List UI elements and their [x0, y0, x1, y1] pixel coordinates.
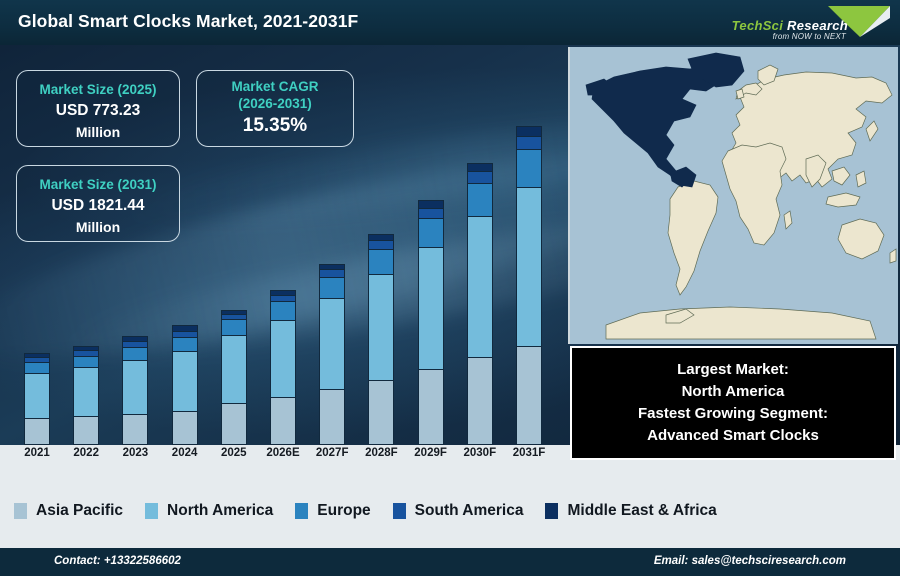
bar-segment-south-america: [368, 240, 394, 249]
bar-2024: [172, 325, 198, 445]
bar-2026e: [270, 290, 296, 445]
callout-largest-market-label: Largest Market:: [677, 359, 789, 381]
bar-segment-asia-pacific: [467, 357, 493, 445]
bar-segment-north-america: [467, 216, 493, 357]
footer-email: Email: sales@techsciresearch.com: [654, 555, 846, 567]
world-map-graphic: [570, 47, 898, 344]
bar-segment-europe: [270, 301, 296, 319]
bar-segment-north-america: [368, 274, 394, 380]
bar-segment-asia-pacific: [122, 414, 148, 445]
legend-swatch-icon: [14, 503, 27, 519]
axis-tick-2029f: 2029F: [407, 447, 455, 459]
bar-segment-asia-pacific: [319, 389, 345, 445]
bar-segment-north-america: [516, 187, 542, 346]
bar-segment-asia-pacific: [418, 369, 444, 445]
bar-2028f: [368, 234, 394, 445]
bar-segment-middle-east-africa: [516, 126, 542, 136]
world-map: [568, 47, 898, 344]
axis-tick-2025: 2025: [210, 447, 258, 459]
bar-segment-asia-pacific: [368, 380, 394, 445]
bar-segment-north-america: [172, 351, 198, 411]
page-title: Global Smart Clocks Market, 2021-2031F: [18, 11, 358, 32]
bar-segment-south-america: [467, 171, 493, 183]
bar-2025: [221, 310, 247, 445]
bar-segment-middle-east-africa: [418, 200, 444, 207]
bar-segment-north-america: [418, 247, 444, 370]
axis-tick-2021: 2021: [13, 447, 61, 459]
legend-label: South America: [415, 502, 524, 520]
bar-2023: [122, 336, 148, 445]
bar-segment-europe: [368, 249, 394, 274]
callout-fastest-segment-value: Advanced Smart Clocks: [647, 425, 819, 447]
bar-2022: [73, 346, 99, 445]
logo-text-research: Research: [783, 18, 848, 33]
callout-largest-market-value: North America: [682, 381, 785, 403]
bar-segment-europe: [516, 149, 542, 187]
infographic-root: Global Smart Clocks Market, 2021-2031F T…: [0, 0, 900, 576]
axis-tick-2026e: 2026E: [259, 447, 307, 459]
legend-item-asia-pacific[interactable]: Asia Pacific: [14, 502, 123, 520]
bar-segment-north-america: [221, 335, 247, 403]
logo-wordmark: TechSci Research: [732, 18, 848, 33]
legend-item-middle-east-africa[interactable]: Middle East & Africa: [545, 502, 716, 520]
bar-2030f: [467, 163, 493, 445]
legend-item-north-america[interactable]: North America: [145, 502, 273, 520]
legend-label: North America: [167, 502, 273, 520]
legend-swatch-icon: [545, 503, 558, 519]
callout-fastest-segment-label: Fastest Growing Segment:: [638, 403, 828, 425]
logo-text-tech: TechSci: [732, 18, 783, 33]
bar-segment-asia-pacific: [24, 418, 50, 445]
bar-segment-europe: [467, 183, 493, 216]
bar-segment-north-america: [319, 298, 345, 389]
axis-tick-2027f: 2027F: [308, 447, 356, 459]
bar-segment-asia-pacific: [270, 397, 296, 445]
footer-bar: Contact: +13322586602 Email: sales@techs…: [0, 548, 900, 576]
bar-segment-north-america: [122, 360, 148, 414]
bar-segment-north-america: [73, 367, 99, 416]
bar-segment-europe: [122, 347, 148, 360]
bar-segment-europe: [73, 356, 99, 368]
axis-tick-2022: 2022: [62, 447, 110, 459]
bar-segment-asia-pacific: [221, 403, 247, 445]
bar-segment-asia-pacific: [516, 346, 542, 445]
axis-tick-2028f: 2028F: [357, 447, 405, 459]
axis-tick-2031f: 2031F: [505, 447, 553, 459]
stacked-bar-chart: [0, 45, 565, 445]
footer-contact: Contact: +13322586602: [54, 555, 181, 567]
legend-item-south-america[interactable]: South America: [393, 502, 524, 520]
bar-2021: [24, 353, 50, 445]
bar-segment-north-america: [24, 373, 50, 419]
legend-item-europe[interactable]: Europe: [295, 502, 370, 520]
bar-segment-europe: [221, 319, 247, 335]
bar-segment-south-america: [319, 269, 345, 277]
header-bar: Global Smart Clocks Market, 2021-2031F T…: [0, 0, 900, 45]
bar-segment-asia-pacific: [172, 411, 198, 445]
bar-segment-south-america: [418, 208, 444, 218]
legend-label: Middle East & Africa: [567, 502, 716, 520]
bar-2027f: [319, 264, 345, 445]
legend-swatch-icon: [295, 503, 308, 519]
legend-label: Asia Pacific: [36, 502, 123, 520]
bar-2029f: [418, 200, 444, 445]
legend-label: Europe: [317, 502, 370, 520]
bar-segment-europe: [418, 218, 444, 247]
bar-segment-asia-pacific: [73, 416, 99, 445]
bar-2031f: [516, 126, 542, 445]
chart-legend: Asia PacificNorth AmericaEuropeSouth Ame…: [0, 490, 900, 532]
bar-segment-north-america: [270, 320, 296, 398]
bar-segment-south-america: [516, 136, 542, 149]
bar-segment-middle-east-africa: [467, 163, 493, 171]
axis-tick-2024: 2024: [161, 447, 209, 459]
bar-segment-europe: [319, 277, 345, 299]
axis-tick-2030f: 2030F: [456, 447, 504, 459]
legend-swatch-icon: [145, 503, 158, 519]
legend-swatch-icon: [393, 503, 406, 519]
axis-tick-2023: 2023: [111, 447, 159, 459]
logo-tagline: from NOW to NEXT: [773, 32, 846, 41]
techsci-research-logo: TechSci Research from NOW to NEXT: [714, 2, 894, 44]
bar-segment-europe: [172, 337, 198, 351]
bar-segment-europe: [24, 362, 50, 373]
callout-box: Largest Market: North America Fastest Gr…: [570, 346, 896, 460]
